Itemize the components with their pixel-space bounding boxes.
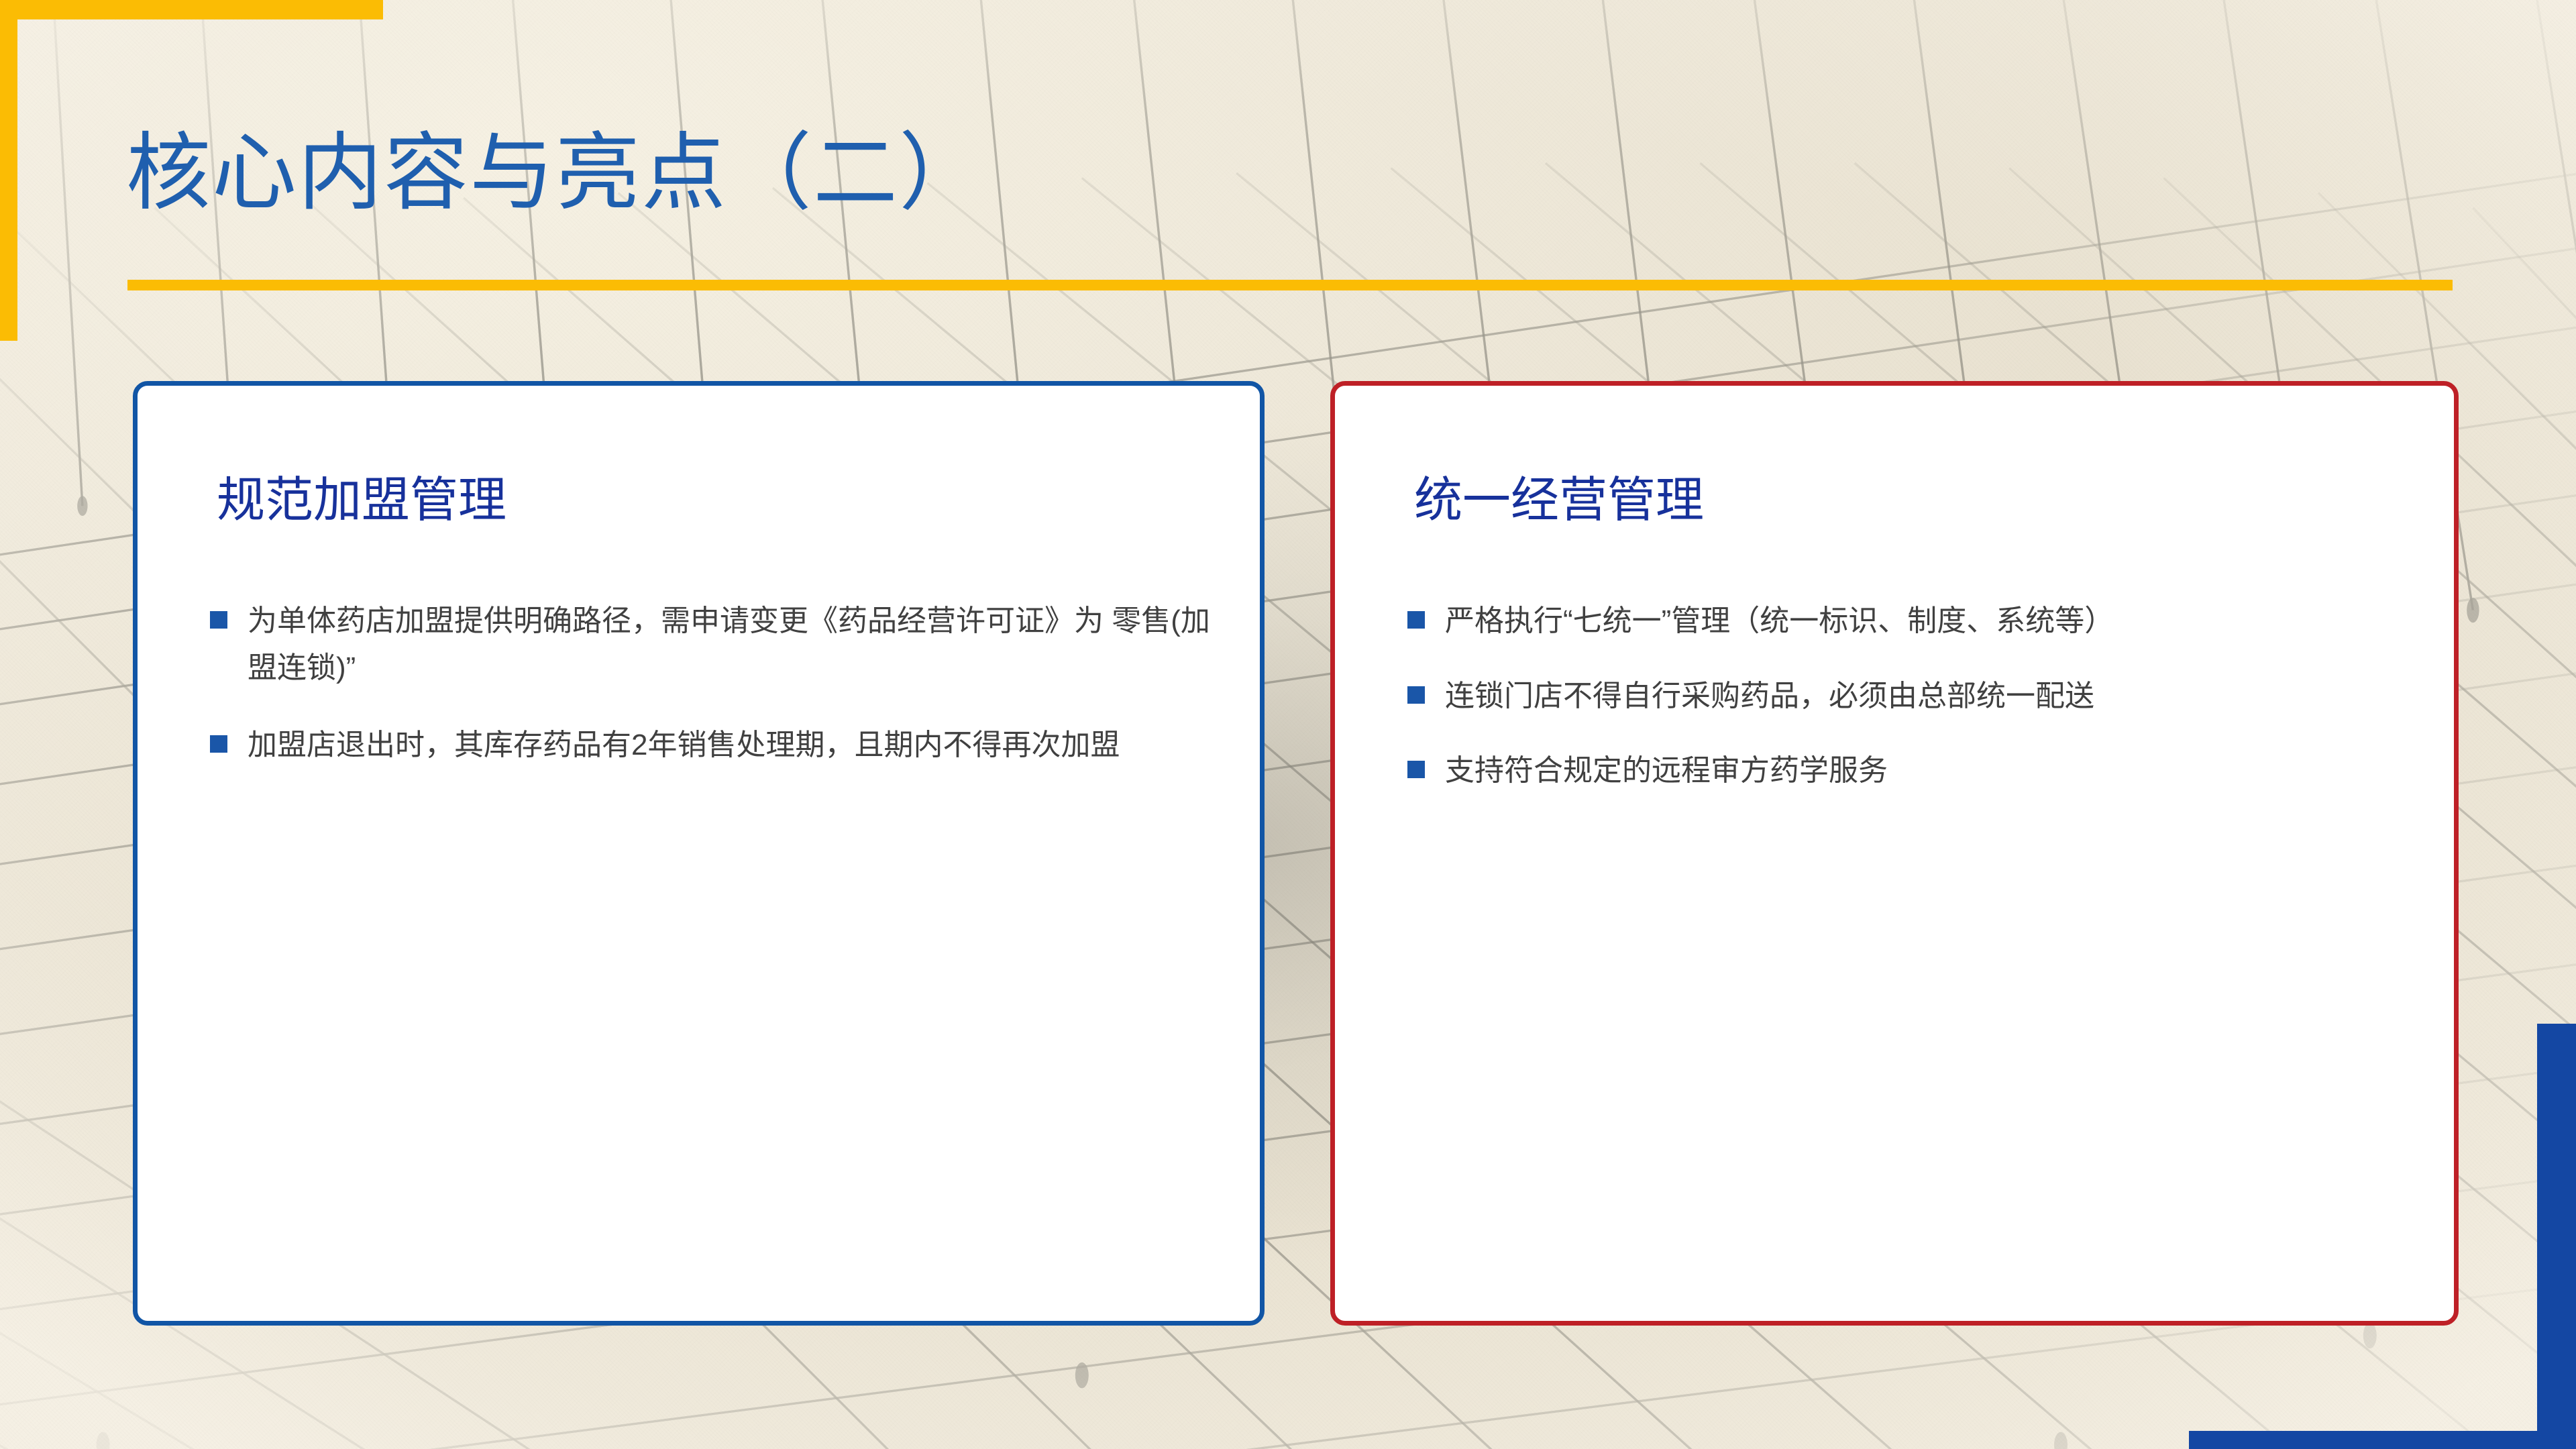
content-card-unified-operation-management: 统一经营管理 严格执行“七统一”管理（统一标识、制度、系统等） 连锁门店不得自行…	[1330, 381, 2459, 1326]
bullet-text: 连锁门店不得自行采购药品，必须由总部统一配送	[1445, 673, 2419, 720]
square-bullet-icon	[210, 735, 227, 753]
square-bullet-icon	[210, 611, 227, 629]
bottom-right-blue-bar	[2189, 1431, 2576, 1449]
bullet-text: 为单体药店加盟提供明确路径，需申请变更《药品经营许可证》为 零售(加盟连锁)”	[248, 598, 1225, 691]
list-item: 为单体药店加盟提供明确路径，需申请变更《药品经营许可证》为 零售(加盟连锁)”	[210, 598, 1225, 691]
bullet-text: 加盟店退出时，其库存药品有2年销售处理期，且期内不得再次加盟	[248, 722, 1225, 769]
list-item: 加盟店退出时，其库存药品有2年销售处理期，且期内不得再次加盟	[210, 722, 1225, 769]
bullet-list: 为单体药店加盟提供明确路径，需申请变更《药品经营许可证》为 零售(加盟连锁)” …	[210, 598, 1225, 800]
list-item: 连锁门店不得自行采购药品，必须由总部统一配送	[1407, 673, 2419, 720]
list-item: 支持符合规定的远程审方药学服务	[1407, 747, 2419, 794]
left-yellow-vertical-bar	[0, 0, 17, 341]
list-item: 严格执行“七统一”管理（统一标识、制度、系统等）	[1407, 598, 2419, 645]
presentation-slide: 核心内容与亮点（二） 规范加盟管理 为单体药店加盟提供明确路径，需申请变更《药品…	[0, 0, 2576, 1449]
bullet-list: 严格执行“七统一”管理（统一标识、制度、系统等） 连锁门店不得自行采购药品，必须…	[1407, 598, 2419, 822]
bullet-text: 严格执行“七统一”管理（统一标识、制度、系统等）	[1445, 598, 2419, 645]
bullet-text: 支持符合规定的远程审方药学服务	[1445, 747, 2419, 794]
top-left-yellow-bar	[0, 0, 383, 19]
title-yellow-divider	[127, 280, 2453, 290]
square-bullet-icon	[1407, 686, 1425, 704]
content-card-franchise-management: 规范加盟管理 为单体药店加盟提供明确路径，需申请变更《药品经营许可证》为 零售(…	[133, 381, 1265, 1326]
slide-title: 核心内容与亮点（二）	[126, 123, 985, 223]
card-title: 规范加盟管理	[217, 472, 506, 529]
square-bullet-icon	[1407, 611, 1425, 629]
card-title: 统一经营管理	[1414, 472, 1704, 529]
square-bullet-icon	[1407, 761, 1425, 778]
right-blue-vertical-bar	[2537, 1024, 2576, 1449]
